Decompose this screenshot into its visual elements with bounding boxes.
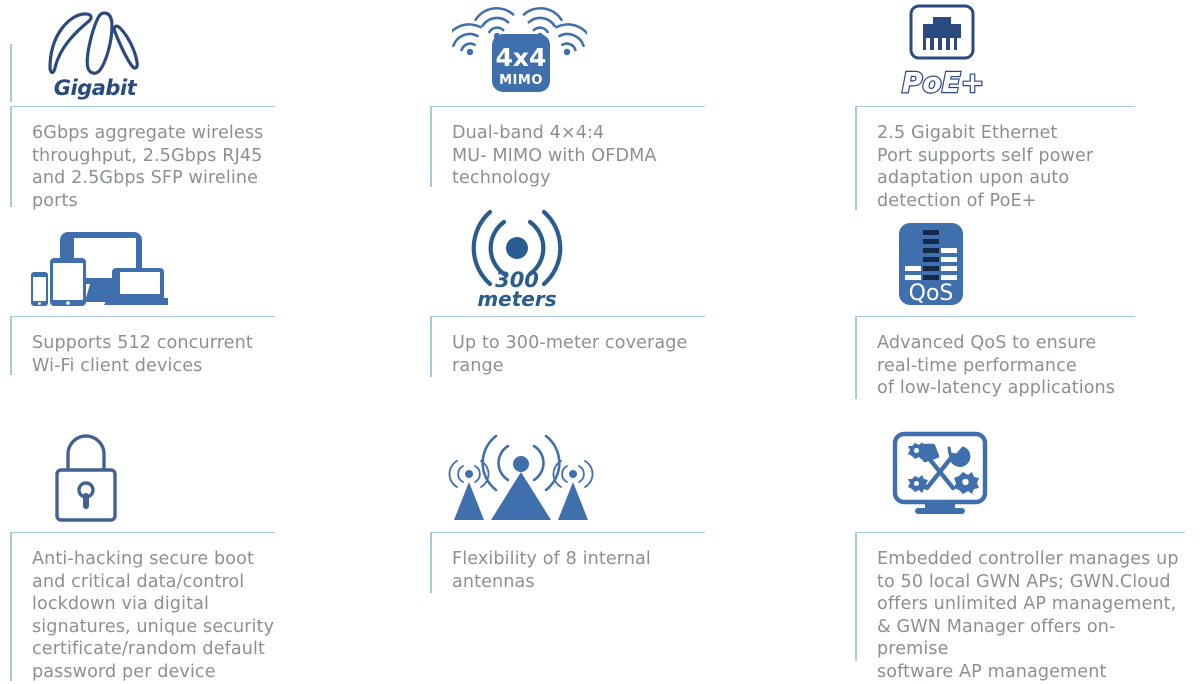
feature-card-mimo-4x4: 4x4 MIMO Dual-band 4×4:4 MU- MIMO with O… (430, 0, 705, 190)
poe-wordmark: PoE+ (902, 66, 984, 99)
monitor-tools-icon (881, 426, 999, 526)
description-wrap: Advanced QoS to ensure real-time perform… (855, 317, 1135, 400)
signal-range-icon: 300 meters (456, 204, 578, 310)
feature-description: Flexibility of 8 internal antennas (432, 533, 651, 593)
description-wrap: Embedded controller manages up to 50 loc… (855, 533, 1185, 684)
feature-card-concurrent-clients: Supports 512 concurrent Wi-Fi client dev… (10, 212, 275, 377)
icon-zone: 300 meters (430, 204, 705, 310)
feature-card-gigabit-throughput: Gigabit 6Gbps aggregate wireless through… (10, 0, 275, 212)
feature-description: 6Gbps aggregate wireless throughput, 2.5… (12, 107, 263, 212)
feature-description: 2.5 Gigabit Ethernet Port supports self … (857, 107, 1093, 212)
feature-description: Supports 512 concurrent Wi-Fi client dev… (12, 317, 253, 377)
feature-card-embedded-controller: Embedded controller manages up to 50 loc… (855, 422, 1185, 684)
icon-zone (10, 212, 275, 310)
icon-zone: 4x4 MIMO (430, 0, 705, 100)
feature-card-coverage-range: 300 meters Up to 300-meter coverage rang… (430, 204, 705, 377)
gigabit-wordmark: Gigabit (54, 76, 138, 100)
description-wrap: Supports 512 concurrent Wi-Fi client dev… (10, 317, 275, 377)
poe-plus-rj45-icon: PoE+ (883, 0, 1003, 100)
feature-description: Advanced QoS to ensure real-time perform… (857, 317, 1115, 400)
feature-description: Anti-hacking secure boot and critical da… (12, 533, 274, 684)
qos-badge-title: QoS (909, 281, 954, 306)
icon-zone (10, 422, 275, 526)
icon-zone: QoS (855, 212, 1135, 310)
description-wrap: Dual-band 4×4:4 MU- MIMO with OFDMA tech… (430, 107, 705, 190)
icon-zone: PoE+ (855, 0, 1135, 100)
antenna-towers-icon (446, 424, 596, 526)
description-wrap: Flexibility of 8 internal antennas (430, 533, 705, 593)
feature-description: Dual-band 4×4:4 MU- MIMO with OFDMA tech… (432, 107, 657, 190)
feature-description: Up to 300-meter coverage range (432, 317, 687, 377)
feature-card-advanced-qos: QoS Advanced QoS to ensure real-time per… (855, 212, 1135, 400)
icon-zone (855, 422, 1185, 526)
feature-card-secure-boot: Anti-hacking secure boot and critical da… (10, 422, 275, 684)
icon-zone: Gigabit (10, 0, 275, 100)
multi-devices-icon (28, 228, 168, 310)
description-wrap: Anti-hacking secure boot and critical da… (10, 533, 275, 684)
description-wrap: 6Gbps aggregate wireless throughput, 2.5… (10, 107, 275, 212)
icon-zone (430, 422, 705, 526)
feature-card-poe-plus: PoE+ 2.5 Gigabit Ethernet Port supports … (855, 0, 1135, 212)
feature-description: Embedded controller manages up to 50 loc… (857, 533, 1185, 684)
description-wrap: 2.5 Gigabit Ethernet Port supports self … (855, 107, 1135, 212)
feature-grid: Gigabit 6Gbps aggregate wireless through… (0, 0, 1200, 676)
range-caption-line2: meters (477, 287, 556, 310)
feature-card-internal-antennas: Flexibility of 8 internal antennas (430, 422, 705, 593)
padlock-icon (40, 426, 132, 526)
mimo-badge-title: 4x4 (496, 43, 547, 72)
4x4-mimo-badge-icon: 4x4 MIMO (452, 0, 587, 100)
qos-equalizer-badge-icon: QoS (881, 218, 981, 310)
gigabit-wings-icon: Gigabit (36, 4, 154, 100)
description-wrap: Up to 300-meter coverage range (430, 317, 705, 377)
mimo-badge-subtitle: MIMO (499, 73, 543, 88)
